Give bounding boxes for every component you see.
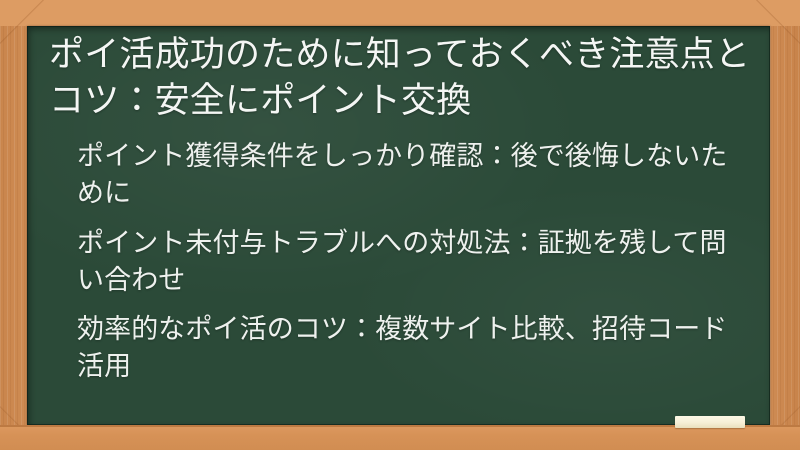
chalkboard-surface: ポイ活成功のために知っておくべき注意点とコツ：安全にポイント交換 ポイント獲得条…	[27, 26, 770, 425]
chalk-stick-icon	[675, 416, 745, 428]
topic-list: ポイント獲得条件をしっかり確認：後で後悔しないために ポイント未付与トラブルへの…	[49, 138, 752, 384]
frame-top-rail	[0, 0, 800, 26]
chalk-ledge	[0, 425, 800, 450]
list-item: ポイント未付与トラブルへの対処法：証拠を残して問い合わせ	[77, 225, 752, 298]
list-item: 効率的なポイ活のコツ：複数サイト比較、招待コード活用	[77, 311, 752, 384]
list-item: ポイント獲得条件をしっかり確認：後で後悔しないために	[77, 138, 752, 211]
blackboard-slide: ポイ活成功のために知っておくべき注意点とコツ：安全にポイント交換 ポイント獲得条…	[0, 0, 800, 450]
page-title: ポイ活成功のために知っておくべき注意点とコツ：安全にポイント交換	[49, 32, 752, 124]
